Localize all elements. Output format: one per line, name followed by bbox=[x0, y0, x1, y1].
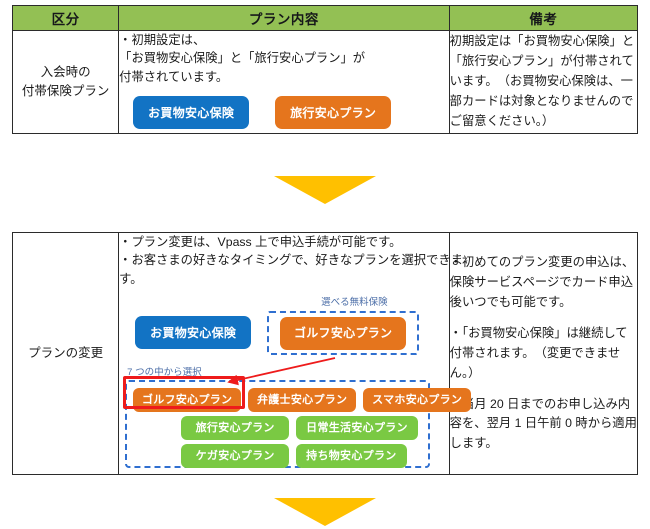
bikou-paragraph-2: ・「お買物安心保険」は継続して付帯されます。 （変更できません。） bbox=[450, 324, 637, 384]
selected-free-plan-outline: ゴルフ安心プラン bbox=[267, 311, 419, 355]
current-plan-button-shopping-insurance[interactable]: お買物安心保険 bbox=[135, 316, 251, 349]
initial-plan-table: 区分 プラン内容 備考 入会時の 付帯保険プラン ・初期設定は、 「お買物安心保… bbox=[12, 5, 638, 134]
table-header-row: 区分 プラン内容 備考 bbox=[13, 6, 638, 31]
label-free-insurance: 選べる無料保険 bbox=[321, 296, 388, 310]
plan-button-travel-plan[interactable]: 旅行安心プラン bbox=[275, 96, 391, 129]
bikou-paragraph-3: ・当月 20 日までのお申し込み内容を、翌月 1 日午前 0 時から適用します。 bbox=[450, 395, 637, 455]
header-bikou: 備考 bbox=[449, 6, 637, 31]
kubun-line-2: 付帯保険プラン bbox=[13, 82, 118, 101]
table-row: 入会時の 付帯保険プラン ・初期設定は、 「お買物安心保険」と「旅行安心プラン」… bbox=[13, 31, 638, 134]
default-plan-buttons: お買物安心保険 旅行安心プラン bbox=[133, 96, 449, 129]
selectable-plan-golf[interactable]: ゴルフ安心プラン bbox=[133, 388, 241, 412]
selectable-plan-daily-life[interactable]: 日常生活安心プラン bbox=[296, 416, 418, 440]
cell-bikou-enrollment: 初期設定は「お買物安心保険」と「旅行安心プラン」が付帯されています。 （お買物安… bbox=[449, 31, 637, 134]
flow-arrow-down-1 bbox=[274, 176, 376, 204]
selectable-plans-row-3: ケガ安心プラン 持ち物安心プラン bbox=[133, 444, 422, 468]
plan-change-line-3: す。 bbox=[119, 270, 449, 288]
bikou-paragraph-1: ・初めてのプラン変更の申込は、保険サービスページでカード申込後いつでも可能です。 bbox=[450, 253, 637, 313]
table-row: プランの変更 ・プラン変更は、Vpass 上で申込手続が可能です。 ・お客さまの… bbox=[13, 233, 638, 475]
cell-kubun-plan-change: プランの変更 bbox=[13, 233, 119, 475]
selectable-plan-lawyer[interactable]: 弁護士安心プラン bbox=[248, 388, 356, 412]
kubun-line-1: 入会時の bbox=[13, 63, 118, 82]
selectable-plan-belongings[interactable]: 持ち物安心プラン bbox=[296, 444, 406, 468]
flow-arrow-down-2 bbox=[274, 498, 376, 526]
bikou-text: 初期設定は「お買物安心保険」と「旅行安心プラン」が付帯されています。 （お買物安… bbox=[450, 32, 637, 132]
plan-line-3: 付帯されています。 bbox=[119, 68, 449, 86]
plan-change-line-2: ・お客さまの好きなタイミングで、好きなプランを選択できま bbox=[119, 251, 449, 269]
selectable-plans-row-2: 旅行安心プラン 日常生活安心プラン bbox=[133, 416, 422, 440]
selectable-plan-injury[interactable]: ケガ安心プラン bbox=[181, 444, 289, 468]
plan-change-table: プランの変更 ・プラン変更は、Vpass 上で申込手続が可能です。 ・お客さまの… bbox=[12, 232, 638, 475]
plan-line-2: 「お買物安心保険」と「旅行安心プラン」が bbox=[119, 49, 449, 67]
current-plan-button-golf-plan[interactable]: ゴルフ安心プラン bbox=[280, 317, 406, 350]
plan-change-line-1: ・プラン変更は、Vpass 上で申込手続が可能です。 bbox=[119, 233, 449, 251]
cell-plan-enrollment: ・初期設定は、 「お買物安心保険」と「旅行安心プラン」が 付帯されています。 お… bbox=[119, 31, 450, 134]
cell-plan-change-content: ・プラン変更は、Vpass 上で申込手続が可能です。 ・お客さまの好きなタイミン… bbox=[119, 233, 450, 475]
header-plan-content: プラン内容 bbox=[119, 6, 450, 31]
plan-line-1: ・初期設定は、 bbox=[119, 31, 449, 49]
red-pointer-arrow-icon bbox=[223, 356, 333, 382]
cell-bikou-plan-change: ・初めてのプラン変更の申込は、保険サービスページでカード申込後いつでも可能です。… bbox=[449, 233, 637, 475]
diagram-sheet: 区分 プラン内容 備考 入会時の 付帯保険プラン ・初期設定は、 「お買物安心保… bbox=[0, 0, 650, 529]
label-choose-from-seven: 7 つの中から選択 bbox=[127, 366, 201, 380]
header-kubun: 区分 bbox=[13, 6, 119, 31]
plan-button-shopping-insurance[interactable]: お買物安心保険 bbox=[133, 96, 249, 129]
plan-change-description: ・プラン変更は、Vpass 上で申込手続が可能です。 ・お客さまの好きなタイミン… bbox=[119, 233, 449, 288]
plan-description: ・初期設定は、 「お買物安心保険」と「旅行安心プラン」が 付帯されています。 bbox=[119, 31, 449, 86]
selectable-plan-travel[interactable]: 旅行安心プラン bbox=[181, 416, 289, 440]
plan-selection-graphic: 選べる無料保険 お買物安心保険 ゴルフ安心プラン 7 つの中から選択 ゴルフ安心… bbox=[119, 294, 449, 474]
selectable-plans-row-1: ゴルフ安心プラン 弁護士安心プラン スマホ安心プラン bbox=[133, 388, 422, 412]
selectable-plan-smartphone[interactable]: スマホ安心プラン bbox=[363, 388, 471, 412]
selectable-plans-outline: ゴルフ安心プラン 弁護士安心プラン スマホ安心プラン 旅行安心プラン 日常生活安… bbox=[125, 380, 430, 468]
cell-kubun-enrollment: 入会時の 付帯保険プラン bbox=[13, 31, 119, 134]
